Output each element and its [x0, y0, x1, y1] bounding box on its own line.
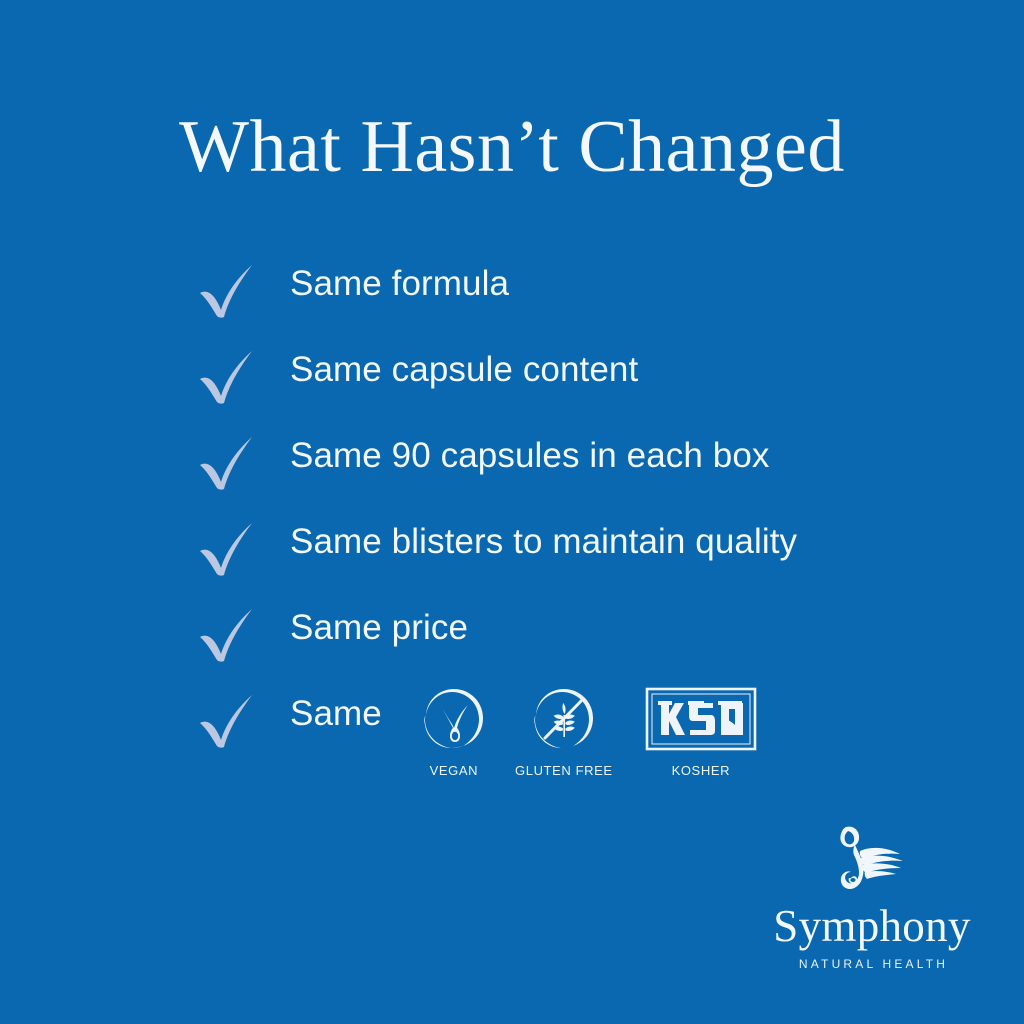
list-item-label: Same 90 capsules in each box — [290, 430, 770, 482]
checkmark-icon — [196, 519, 258, 581]
list-item: Same price — [196, 602, 956, 688]
checkmark-icon — [196, 433, 258, 495]
kosher-ksa-icon — [645, 684, 757, 754]
checkmark-icon — [196, 691, 258, 753]
page-title: What Hasn’t Changed — [0, 104, 1024, 190]
checklist: Same formula Same capsule content Same 9… — [196, 258, 956, 774]
gluten-free-icon — [530, 684, 598, 754]
list-item: Same formula — [196, 258, 956, 344]
badge-gluten-free: GLUTEN FREE — [518, 684, 610, 778]
checkmark-icon — [196, 347, 258, 409]
badge-label: VEGAN — [430, 763, 479, 778]
poster-canvas: What Hasn’t Changed Same formula Same ca… — [0, 0, 1024, 1024]
list-item: Same 90 capsules in each box — [196, 430, 956, 516]
list-item-label: Same price — [290, 602, 468, 654]
badge-label: GLUTEN FREE — [515, 763, 613, 778]
certification-badges: VEGAN — [408, 684, 766, 778]
list-item: Same blisters to maintain quality — [196, 516, 956, 602]
checkmark-icon — [196, 605, 258, 667]
badge-vegan: VEGAN — [408, 684, 500, 778]
vegan-icon — [420, 684, 488, 754]
brand-logo: Symphony NATURAL HEALTH — [762, 823, 982, 972]
list-item: Same VEGAN — [196, 688, 956, 774]
list-item: Same capsule content — [196, 344, 956, 430]
leaf-flourish-icon — [762, 823, 982, 899]
list-item-label: Same capsule content — [290, 344, 638, 396]
badge-label: KOSHER — [672, 763, 731, 778]
logo-tagline: NATURAL HEALTH — [762, 956, 982, 972]
list-item-label: Same formula — [290, 258, 509, 310]
list-item-label: Same — [290, 688, 382, 740]
logo-wordmark: Symphony — [762, 901, 982, 951]
badge-kosher: KOSHER — [636, 684, 766, 778]
checkmark-icon — [196, 261, 258, 323]
list-item-label: Same blisters to maintain quality — [290, 516, 797, 568]
